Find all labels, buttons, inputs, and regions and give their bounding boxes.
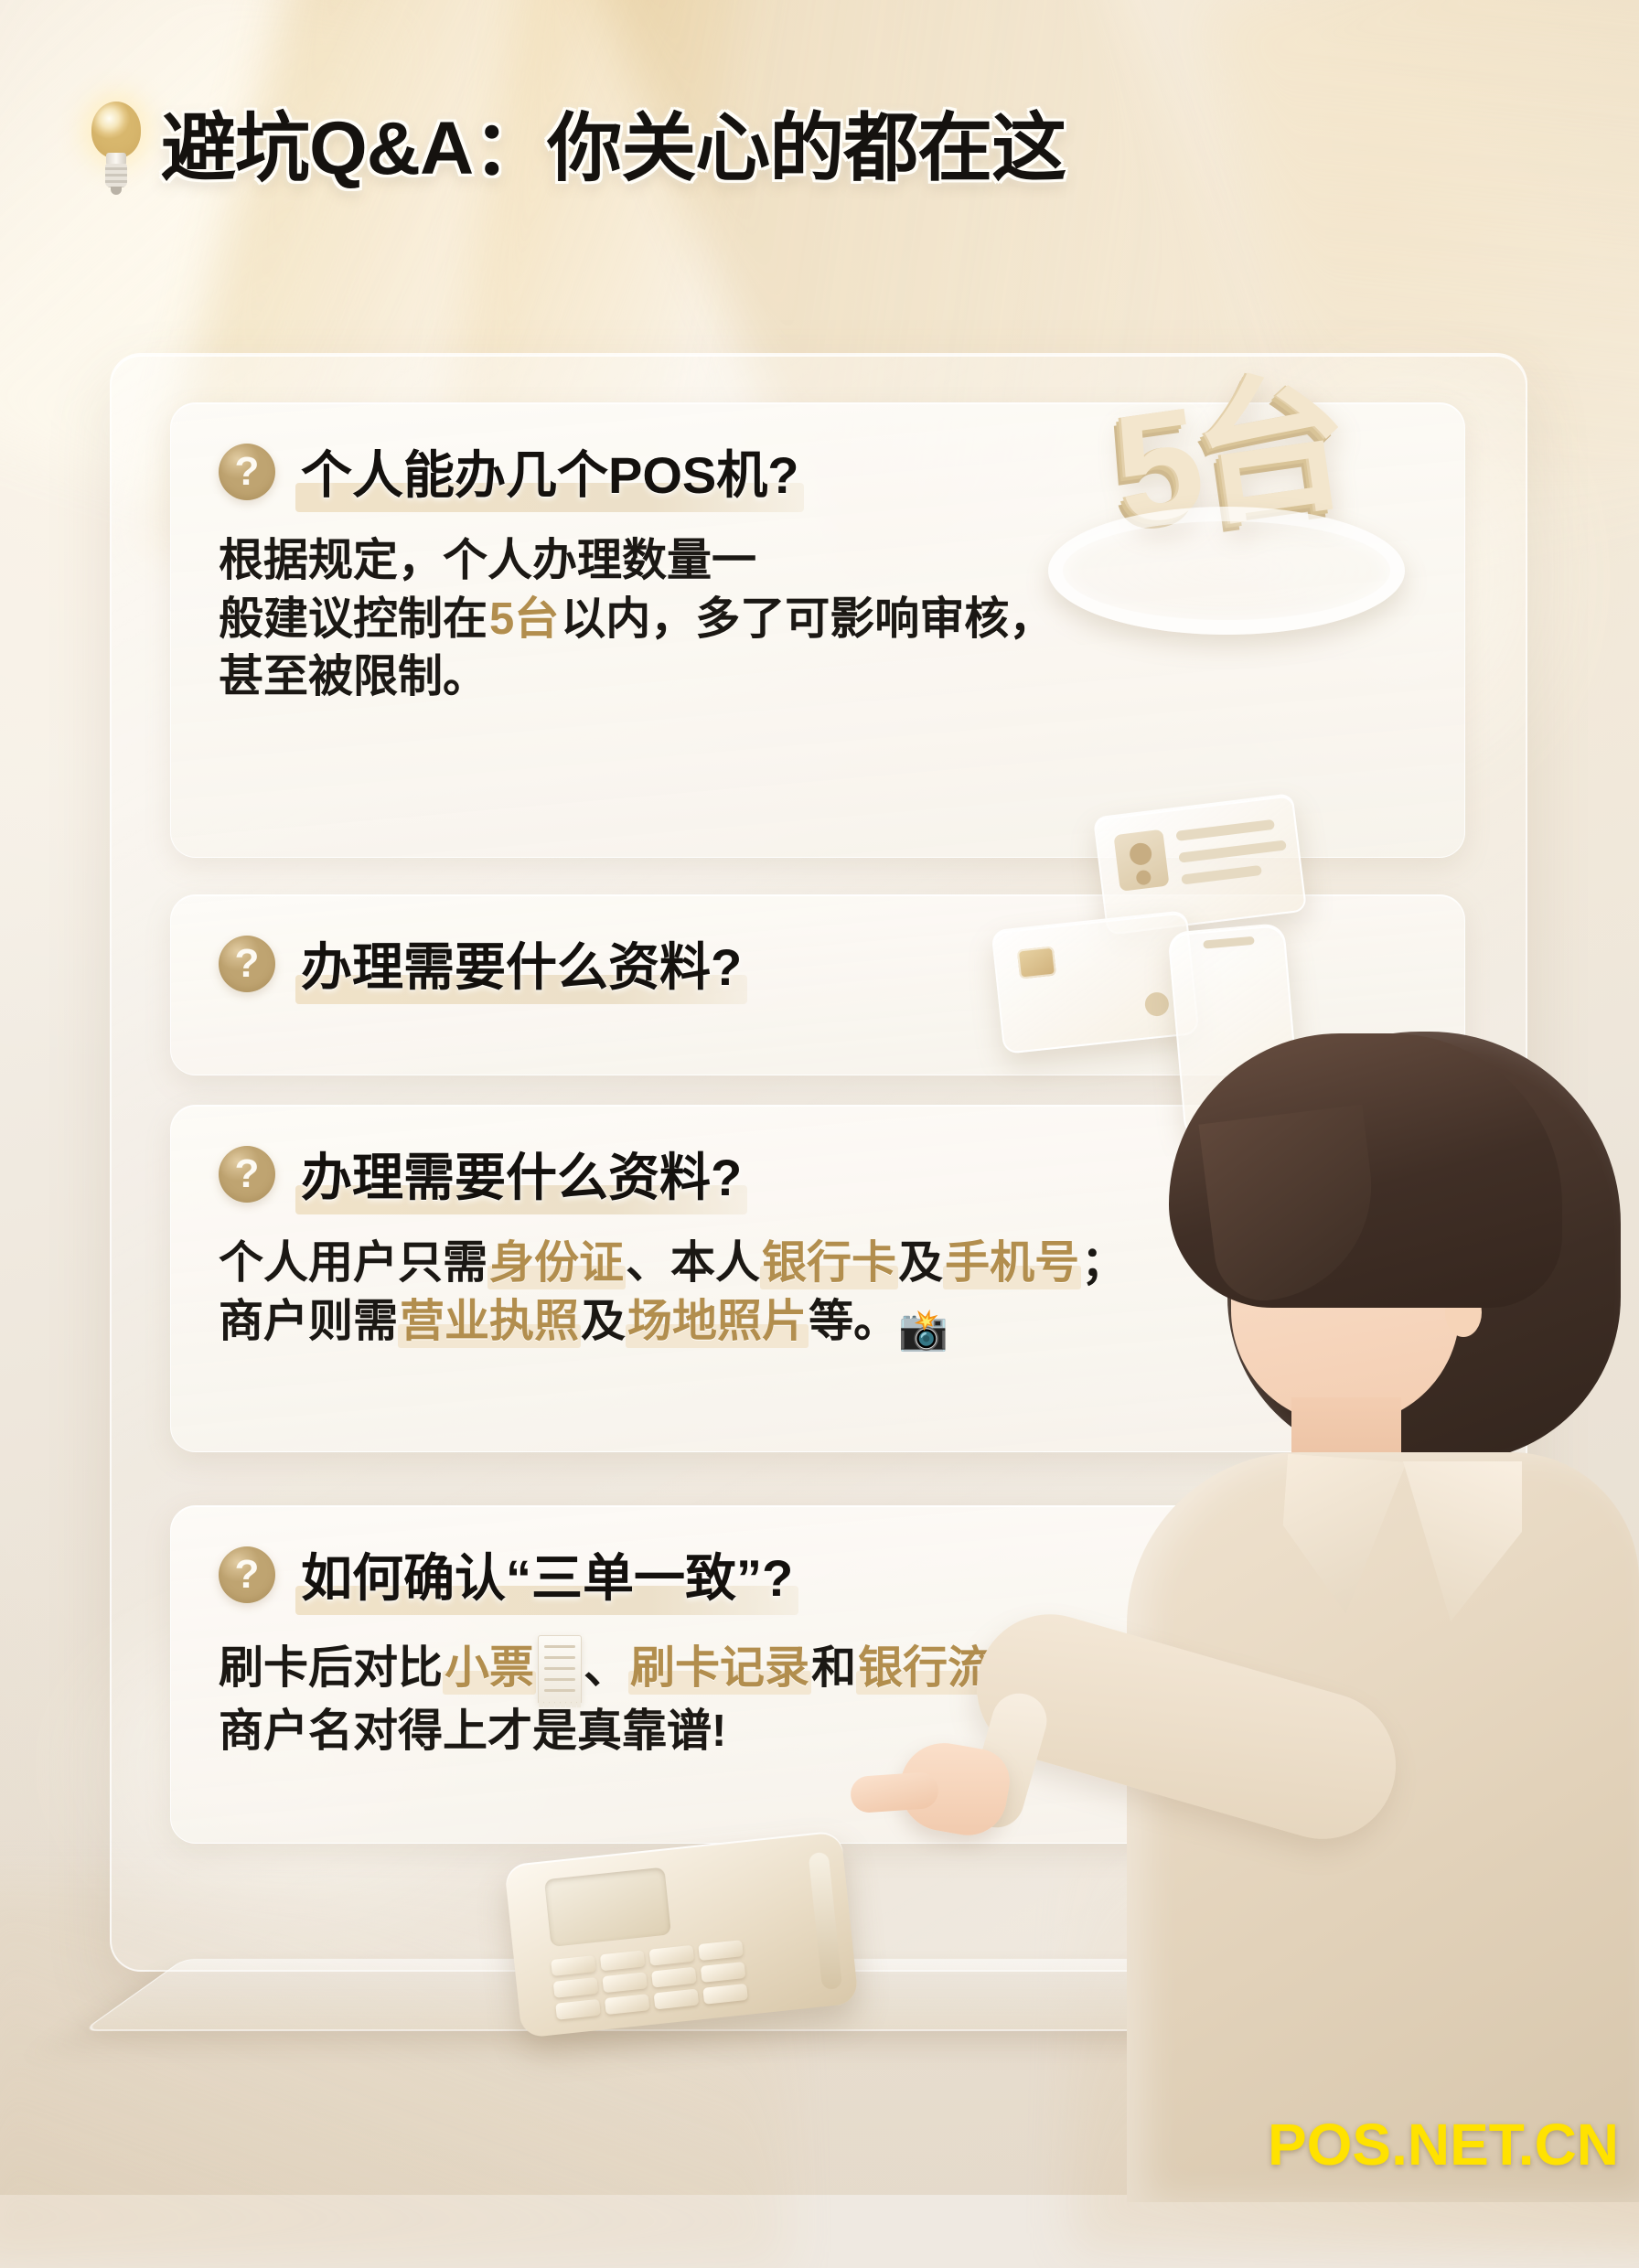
highlight-term: 身份证 [487, 1238, 626, 1288]
highlight-term: 小票 [443, 1643, 536, 1693]
lightbulb-icon [88, 102, 145, 197]
header: 避坑Q&A：你关心的都在这 [88, 99, 1121, 199]
3d-5tai-prop: 5台 [1032, 369, 1434, 644]
id-photo [1113, 829, 1169, 892]
id-line [1178, 840, 1286, 862]
question-text: 个人能办几个POS机? [295, 434, 804, 508]
lightbulb-tip [111, 187, 122, 195]
question-text: 办理需要什么资料? [295, 926, 747, 1000]
question-text: 如何确认“三单一致”? [295, 1537, 798, 1611]
id-card-icon [1093, 793, 1307, 936]
glass-ring [1048, 507, 1405, 635]
question-text: 办理需要什么资料? [295, 1137, 747, 1211]
question-badge-icon: ? [219, 936, 275, 992]
answer-line: 甚至被限制。 [219, 648, 1464, 707]
watermark: POS.NET.CN [1268, 2111, 1619, 2178]
lightbulb-base [105, 164, 127, 187]
page-title: 避坑Q&A：你关心的都在这 [161, 112, 1066, 187]
receipt-icon [538, 1635, 582, 1703]
highlight-term: 场地照片 [626, 1297, 809, 1346]
card-chip [1017, 947, 1056, 979]
pointing-finger [850, 1771, 940, 1814]
question-badge-icon: ? [219, 444, 275, 500]
camera-icon: 📸 [898, 1304, 948, 1356]
id-line [1181, 865, 1262, 885]
question-badge-icon: ? [219, 1546, 275, 1603]
3d-woman-character [999, 1013, 1639, 2202]
highlight-term: 刷卡记录 [628, 1643, 811, 1693]
question-badge-icon: ? [219, 1146, 275, 1203]
id-line [1175, 819, 1275, 841]
highlight-term: 5台 [487, 594, 561, 644]
pos-terminal-icon [504, 1830, 859, 2038]
lightbulb-glass [91, 102, 141, 158]
phone-notch [1203, 936, 1255, 949]
highlight-term: 营业执照 [398, 1297, 581, 1346]
torso [1127, 1452, 1639, 2202]
highlight-term: 银行卡 [760, 1238, 898, 1288]
pos-screen [544, 1867, 671, 1947]
